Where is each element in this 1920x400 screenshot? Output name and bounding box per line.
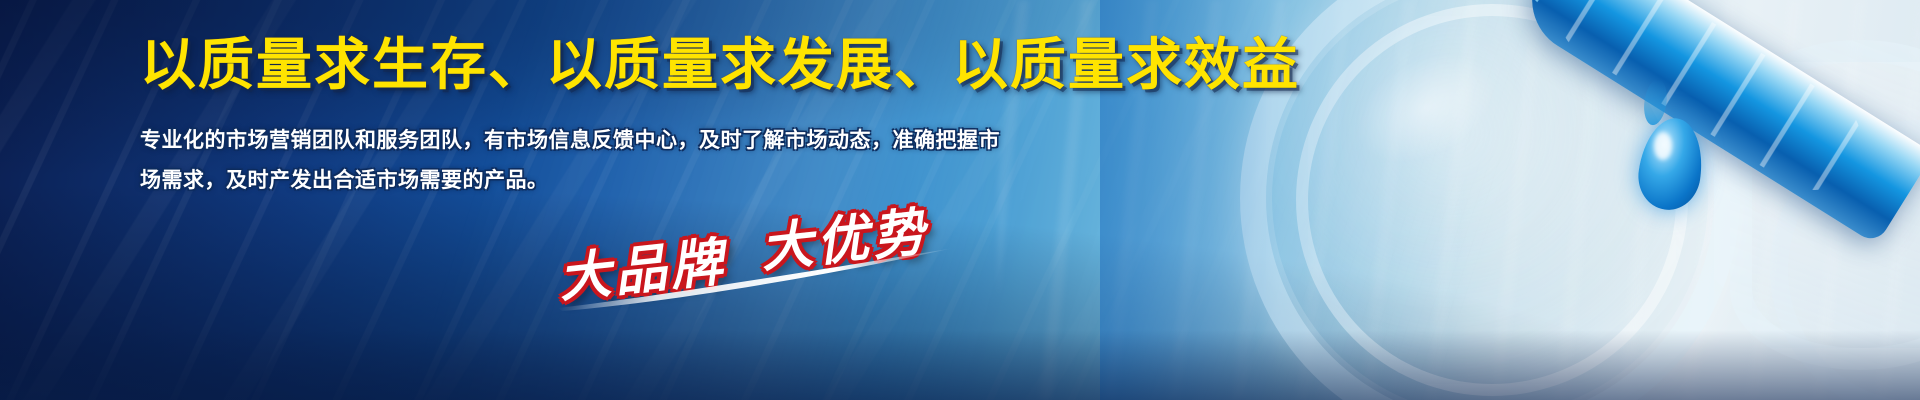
promo-banner: 以质量求生存、以质量求发展、以质量求效益 专业化的市场营销团队和服务团队，有市场… — [0, 0, 1920, 400]
calligraphy-word-big-brand: 大品牌 — [555, 219, 730, 311]
bottom-fade — [0, 330, 1920, 400]
banner-headline: 以质量求生存、以质量求发展、以质量求效益 — [140, 36, 1300, 95]
calligraphy-slogan: 大品牌 大优势 — [548, 196, 968, 316]
calligraphy-word-big-advantage: 大优势 — [757, 189, 932, 281]
banner-body-copy: 专业化的市场营销团队和服务团队，有市场信息反馈中心，及时了解市场动态，准确把握市… — [140, 120, 1040, 200]
body-line-1: 专业化的市场营销团队和服务团队，有市场信息反馈中心，及时了解市场动态，准确把握市 — [140, 120, 1040, 160]
